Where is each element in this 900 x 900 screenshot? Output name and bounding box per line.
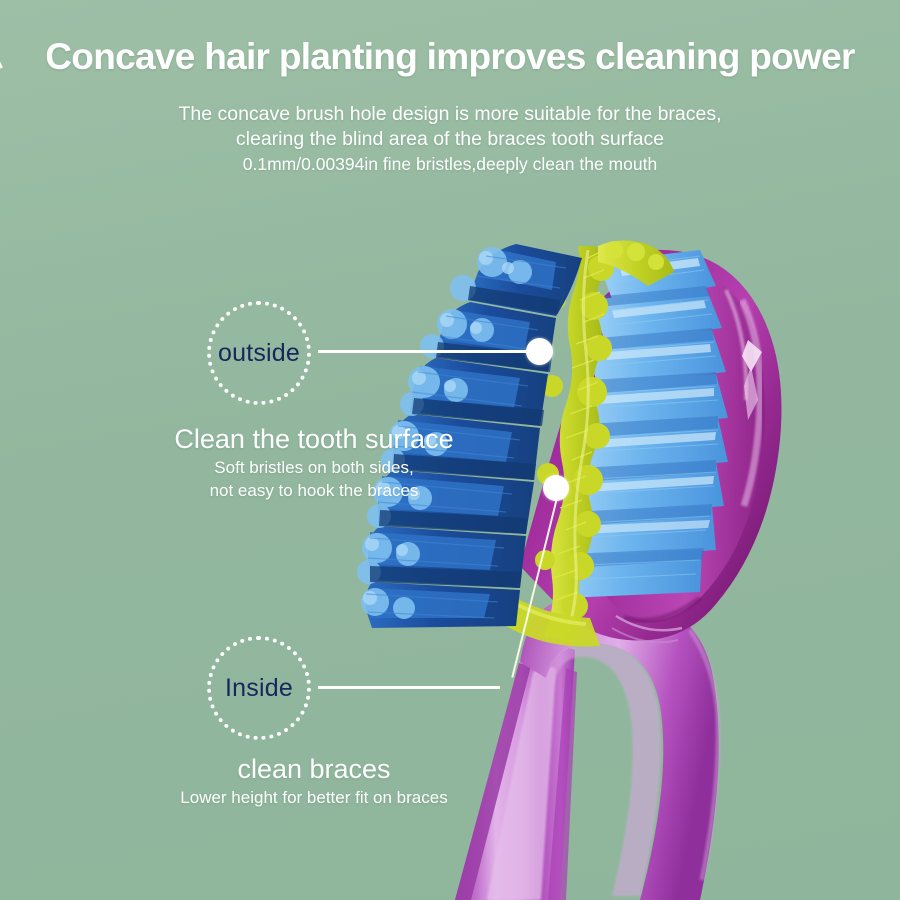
callout-outside-sub-1: Soft bristles on both sides, xyxy=(104,456,524,479)
callout-inside-sub-1: Lower height for better fit on braces xyxy=(104,786,524,809)
callout-badge-outside-label: outside xyxy=(218,339,300,368)
marker-dot-inside xyxy=(543,475,569,501)
callout-outside-heading: Clean the tooth surface xyxy=(104,422,524,456)
subtitle-line-3: 0.1mm/0.00394in fine bristles,deeply cle… xyxy=(0,152,900,177)
callout-text-outside: Clean the tooth surface Soft bristles on… xyxy=(104,422,524,502)
callout-badge-inside: Inside xyxy=(207,636,311,740)
page-subtitle: The concave brush hole design is more su… xyxy=(0,102,900,177)
callout-outside-sub-2: not easy to hook the braces xyxy=(104,479,524,502)
marker-dot-outside xyxy=(526,338,553,365)
callout-badge-inside-label: Inside xyxy=(225,674,293,703)
callout-text-inside: clean braces Lower height for better fit… xyxy=(104,752,524,809)
callout-badge-outside: outside xyxy=(207,301,311,405)
leader-line-outside xyxy=(318,350,540,353)
subtitle-line-2: clearing the blind area of the braces to… xyxy=(0,127,900,152)
poster-canvas: Concave hair planting improves cleaning … xyxy=(0,0,900,900)
subtitle-line-1: The concave brush hole design is more su… xyxy=(0,102,900,127)
callout-inside-heading: clean braces xyxy=(104,752,524,786)
leader-line-inside-horizontal xyxy=(318,686,500,689)
page-title: Concave hair planting improves cleaning … xyxy=(0,36,900,78)
